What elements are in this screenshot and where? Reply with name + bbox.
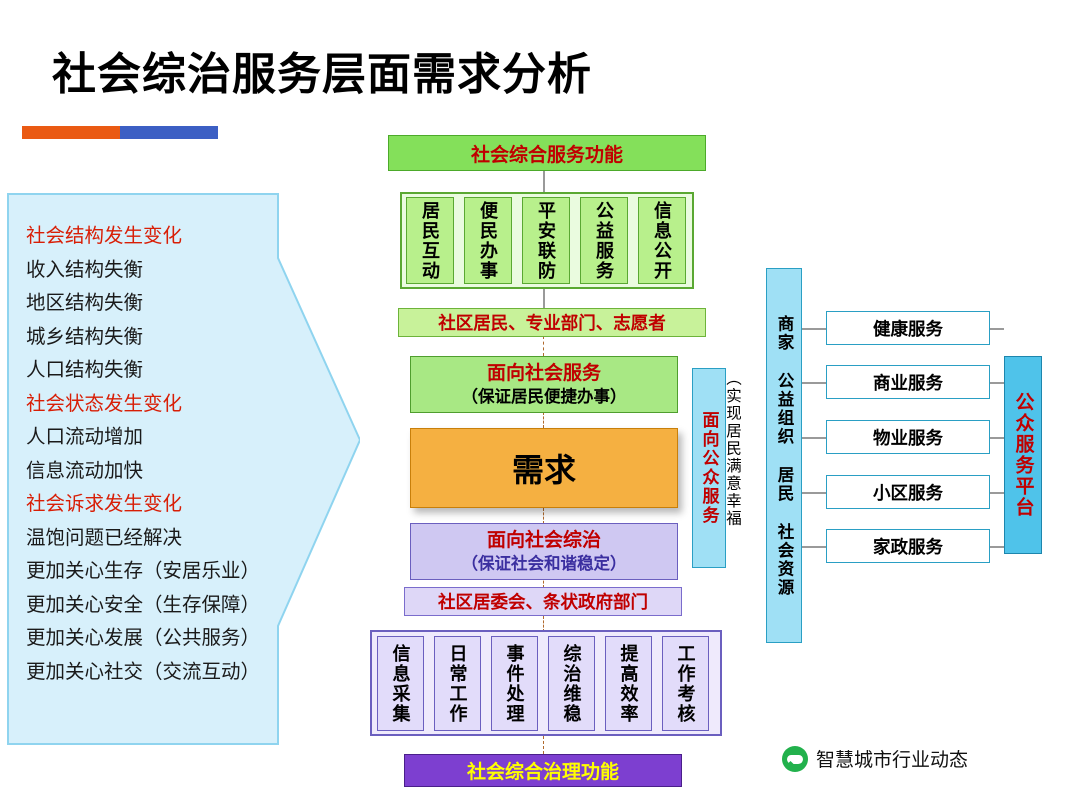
right-service-item-3[interactable]: 小区服务 [826, 475, 990, 509]
rule-segment-orange [22, 126, 120, 139]
connector-band-to-service [543, 336, 544, 356]
top-item-3[interactable]: 公益服务 [580, 197, 628, 284]
connector-item0-platform [990, 328, 1004, 330]
left-line-1: 收入结构失衡 [26, 254, 296, 288]
right-service-item-1[interactable]: 商业服务 [826, 365, 990, 399]
top-stakeholders-band[interactable]: 社区居民、专业部门、志愿者 [398, 308, 706, 337]
connector-item1-platform [990, 382, 1004, 384]
bottom-item-5[interactable]: 工作考核 [662, 636, 709, 731]
governance-oriented-title: 面向社会综治 [487, 529, 601, 553]
connector-resources-item3 [802, 492, 826, 494]
top-item-1[interactable]: 便民办事 [464, 197, 512, 284]
bottom-item-3[interactable]: 综治维稳 [548, 636, 595, 731]
rule-segment-blue [120, 126, 218, 139]
bottom-item-4[interactable]: 提高效率 [605, 636, 652, 731]
left-line-13: 更加关心社交（交流互动） [26, 656, 296, 690]
top-item-0[interactable]: 居民互动 [406, 197, 454, 284]
bottom-item-1[interactable]: 日常工作 [434, 636, 481, 731]
left-line-2: 地区结构失衡 [26, 287, 296, 321]
center-bottom-header[interactable]: 社会综合治理功能 [404, 754, 682, 787]
top-item-2[interactable]: 平安联防 [522, 197, 570, 284]
left-line-4: 人口结构失衡 [26, 354, 296, 388]
need-box[interactable]: 需求 [410, 428, 678, 508]
left-line-3: 城乡结构失衡 [26, 321, 296, 355]
connector-item2-platform [990, 437, 1004, 439]
connector-service-to-need [543, 412, 544, 428]
right-service-item-2[interactable]: 物业服务 [826, 420, 990, 454]
bottom-item-0[interactable]: 信息采集 [377, 636, 424, 731]
title-underline-rule [22, 126, 218, 139]
wechat-logo-icon [782, 746, 808, 772]
left-line-0: 社会结构发生变化 [26, 220, 296, 254]
left-line-5: 社会状态发生变化 [26, 388, 296, 422]
right-service-item-4[interactable]: 家政服务 [826, 529, 990, 563]
page-title: 社会综治服务层面需求分析 [52, 38, 592, 102]
bottom-stakeholders-band[interactable]: 社区居委会、条状政府部门 [404, 587, 682, 616]
left-line-11: 更加关心安全（生存保障） [26, 589, 296, 623]
left-line-8: 社会诉求发生变化 [26, 488, 296, 522]
governance-oriented-subtitle: （保证社会和谐稳定） [462, 553, 627, 575]
governance-oriented-box[interactable]: 面向社会综治 （保证社会和谐稳定） [410, 523, 678, 580]
connector-items-to-band [543, 288, 545, 308]
connector-resources-item4 [802, 546, 826, 548]
connector-need-to-govern [543, 508, 544, 524]
service-oriented-box[interactable]: 面向社会服务 （保证居民便捷办事） [410, 356, 678, 413]
bottom-item-2[interactable]: 事件处理 [491, 636, 538, 731]
diagram-canvas: 社会综治服务层面需求分析 社会结构发生变化 收入结构失衡 地区结构失衡 城乡结构… [0, 0, 1080, 810]
left-line-10: 更加关心生存（安居乐业） [26, 555, 296, 589]
right-service-item-0[interactable]: 健康服务 [826, 311, 990, 345]
connector-item3-platform [990, 492, 1004, 494]
happiness-goal-vertical: （实现居民满意幸福 [717, 363, 747, 535]
service-oriented-subtitle: （保证居民便捷办事） [462, 386, 627, 408]
resources-vertical[interactable]: 商家 公益组织 居民 社会资源 [766, 268, 802, 643]
left-line-7: 信息流动加快 [26, 455, 296, 489]
center-top-header[interactable]: 社会综合服务功能 [388, 135, 706, 171]
connector-top-header-to-items [543, 170, 545, 192]
watermark-account-name: 智慧城市行业动态 [816, 745, 968, 772]
top-item-4[interactable]: 信息公开 [638, 197, 686, 284]
watermark: 智慧城市行业动态 [782, 745, 968, 772]
left-line-9: 温饱问题已经解决 [26, 522, 296, 556]
connector-bottomitems-to-footer [543, 736, 544, 754]
left-line-6: 人口流动增加 [26, 421, 296, 455]
connector-resources-item2 [802, 437, 826, 439]
public-service-platform-vertical[interactable]: 公众服务平台 [1004, 356, 1042, 554]
service-oriented-title: 面向社会服务 [487, 362, 601, 386]
left-line-12: 更加关心发展（公共服务） [26, 622, 296, 656]
left-arrow-panel: 社会结构发生变化 收入结构失衡 地区结构失衡 城乡结构失衡 人口结构失衡 社会状… [0, 188, 360, 758]
left-panel-text-list: 社会结构发生变化 收入结构失衡 地区结构失衡 城乡结构失衡 人口结构失衡 社会状… [26, 220, 296, 689]
connector-resources-item0 [802, 328, 826, 330]
connector-resources-item1 [802, 382, 826, 384]
connector-item4-platform [990, 546, 1004, 548]
